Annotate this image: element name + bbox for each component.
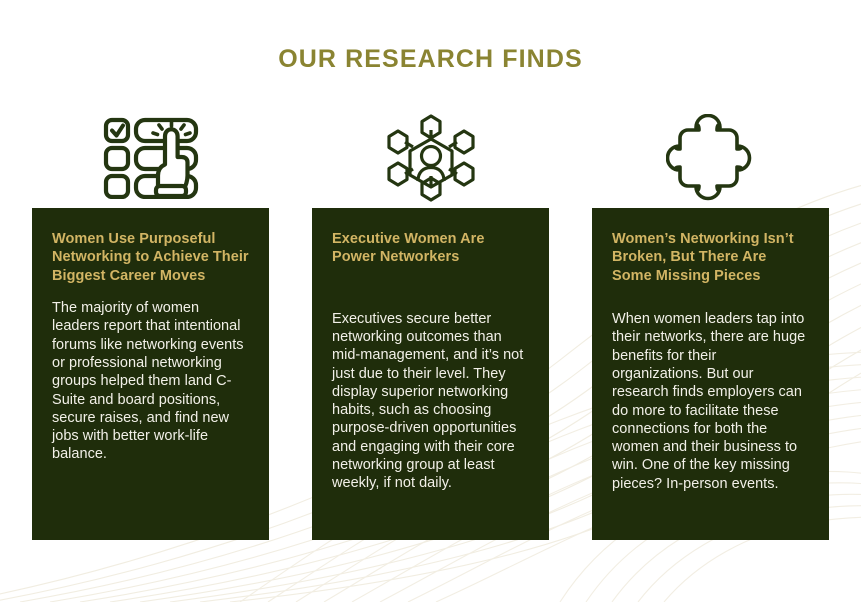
research-card-3: Women’s Networking Isn’t Broken, But The… (592, 208, 829, 540)
card-body: When women leaders tap into their networ… (612, 310, 809, 493)
research-column-2: Executive Women Are Power Networkers Exe… (312, 108, 549, 540)
research-column-1: Women Use Purposeful Networking to Achie… (32, 108, 269, 540)
network-hexagon-person-icon (387, 108, 475, 208)
page-title: OUR RESEARCH FINDS (0, 45, 861, 74)
puzzle-piece-icon (666, 108, 756, 208)
research-card-2: Executive Women Are Power Networkers Exe… (312, 208, 549, 540)
card-heading: Women’s Networking Isn’t Broken, But The… (612, 230, 809, 285)
checklist-hand-icon (103, 108, 199, 208)
card-heading: Women Use Purposeful Networking to Achie… (52, 230, 249, 285)
card-body: The majority of women leaders report tha… (52, 299, 249, 463)
card-heading: Executive Women Are Power Networkers (332, 230, 529, 267)
research-findings-columns: Women Use Purposeful Networking to Achie… (32, 108, 829, 540)
card-body: Executives secure better networking outc… (332, 310, 529, 493)
research-card-1: Women Use Purposeful Networking to Achie… (32, 208, 269, 540)
research-column-3: Women’s Networking Isn’t Broken, But The… (592, 108, 829, 540)
